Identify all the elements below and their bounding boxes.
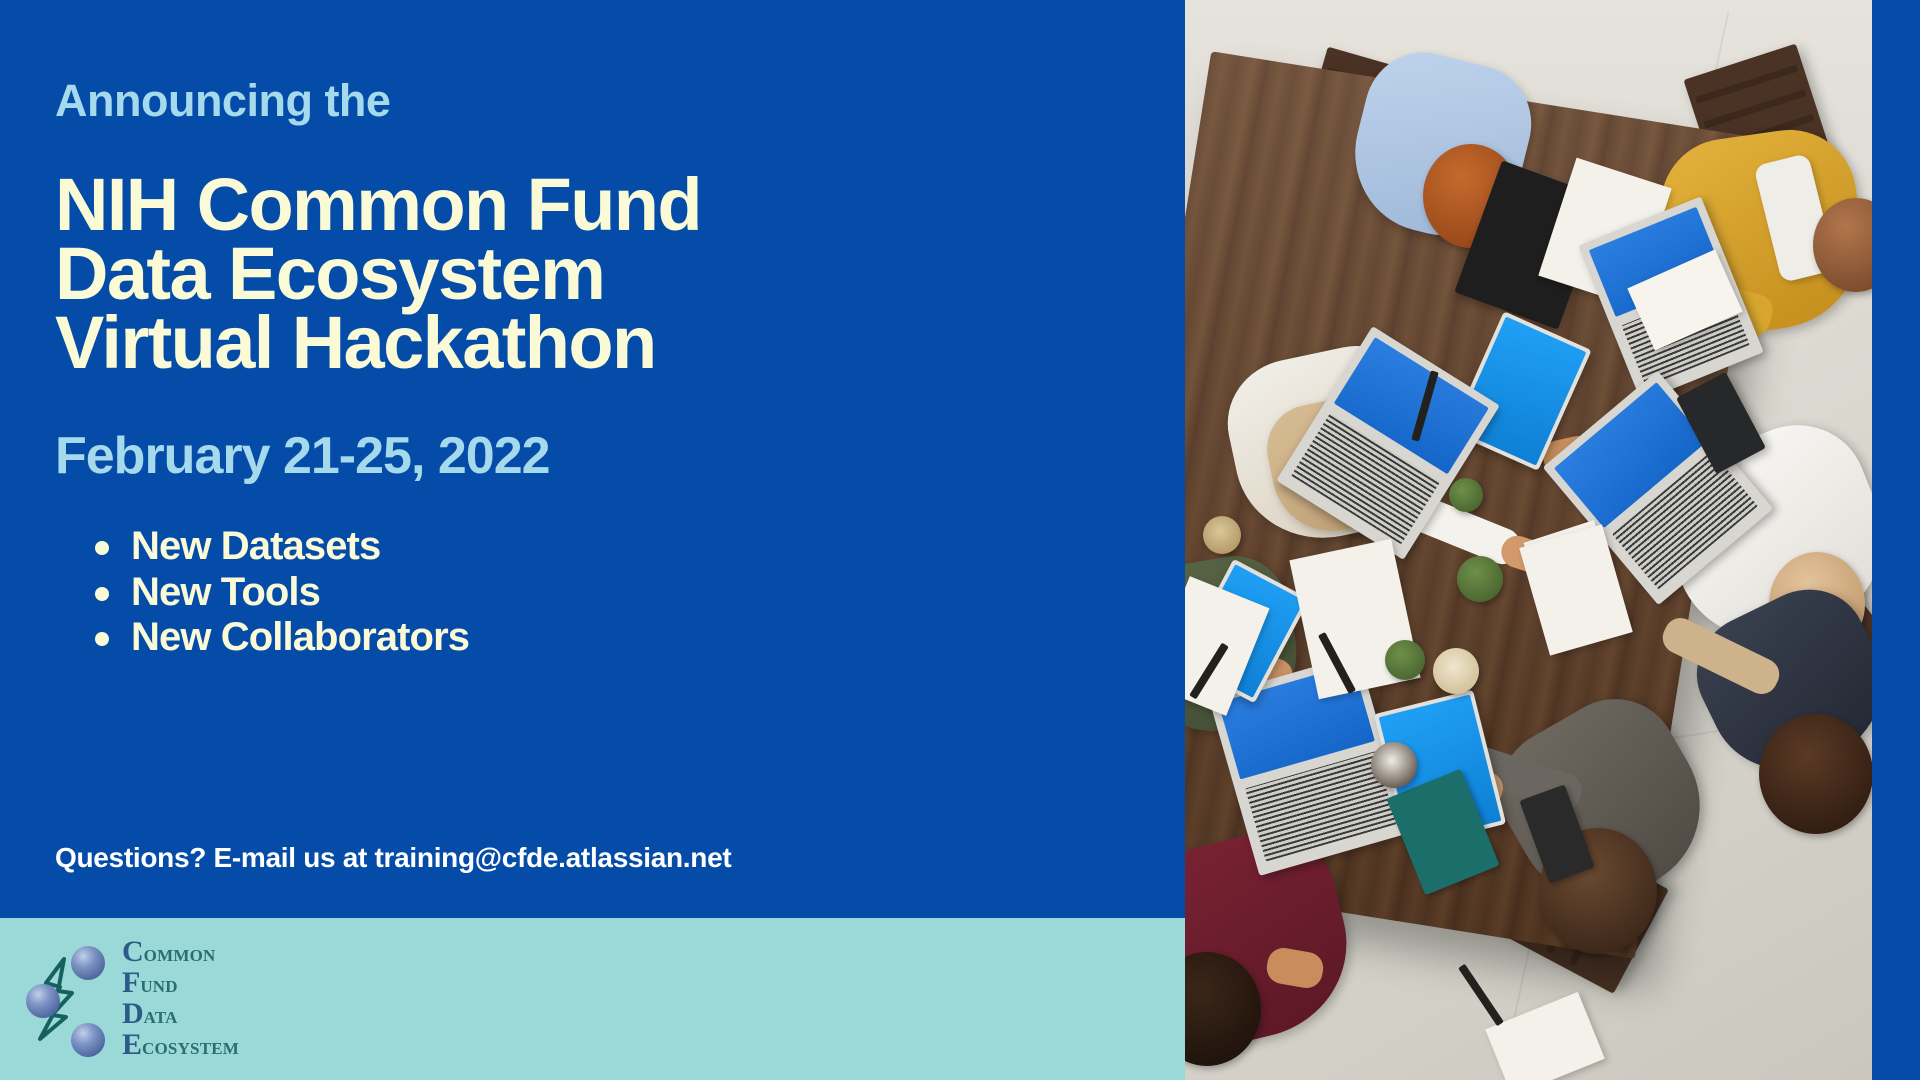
- headline-line-1: NIH Common Fund: [55, 171, 955, 240]
- person-maroon-shirt: [1185, 830, 1395, 1080]
- logo-initial-e: E: [122, 1033, 142, 1058]
- left-content-panel: Announcing the NIH Common Fund Data Ecos…: [0, 0, 1185, 918]
- cfde-logo: C OMMON F UND D ATA E COSYSTEM: [26, 934, 276, 1069]
- bullet-dot-icon: [95, 541, 109, 555]
- list-item: New Tools: [83, 570, 1185, 616]
- list-item: New Datasets: [83, 524, 1185, 570]
- coffee-mug: [1203, 516, 1241, 554]
- bullet-dot-icon: [95, 587, 109, 601]
- list-item: New Collaborators: [83, 615, 1185, 661]
- footer-bar: C OMMON F UND D ATA E COSYSTEM: [0, 918, 1185, 1080]
- list-item-label: New Tools: [131, 570, 320, 614]
- logo-initial-d: D: [122, 1002, 144, 1027]
- logo-initial-f: F: [122, 971, 140, 996]
- meeting-photo: [1185, 0, 1872, 1080]
- logo-word-ecosystem: COSYSTEM: [142, 1042, 239, 1056]
- right-blue-strip: [1872, 0, 1920, 1080]
- contact-email-line[interactable]: Questions? E-mail us at training@cfde.at…: [55, 842, 731, 874]
- headline-line-2: Data Ecosystem: [55, 240, 955, 309]
- small-plant: [1449, 478, 1483, 512]
- cfde-logo-wordmark: C OMMON F UND D ATA E COSYSTEM: [122, 940, 239, 1064]
- small-plant: [1457, 556, 1503, 602]
- logo-word-common: OMMON: [144, 949, 216, 963]
- kicker-text: Announcing the: [55, 78, 1185, 123]
- coffee-mug: [1371, 742, 1417, 788]
- headline-line-3: Virtual Hackathon: [55, 309, 955, 378]
- small-plant: [1385, 640, 1425, 680]
- cfde-logo-mark-icon: [26, 939, 114, 1064]
- person-dark-navy: [1675, 600, 1872, 860]
- event-dateline: February 21-25, 2022: [55, 429, 1185, 484]
- logo-row-ecosystem: E COSYSTEM: [122, 1033, 239, 1064]
- poster-canvas: Announcing the NIH Common Fund Data Ecos…: [0, 0, 1920, 1080]
- coffee-mug: [1433, 648, 1479, 694]
- page-title: NIH Common Fund Data Ecosystem Virtual H…: [55, 171, 955, 377]
- logo-word-fund: UND: [140, 980, 177, 994]
- logo-initial-c: C: [122, 940, 144, 965]
- list-item-label: New Datasets: [131, 524, 380, 568]
- logo-word-data: ATA: [144, 1011, 178, 1025]
- bullet-dot-icon: [95, 632, 109, 646]
- head: [1759, 714, 1872, 834]
- list-item-label: New Collaborators: [131, 615, 469, 659]
- feature-list: New Datasets New Tools New Collaborators: [83, 524, 1185, 661]
